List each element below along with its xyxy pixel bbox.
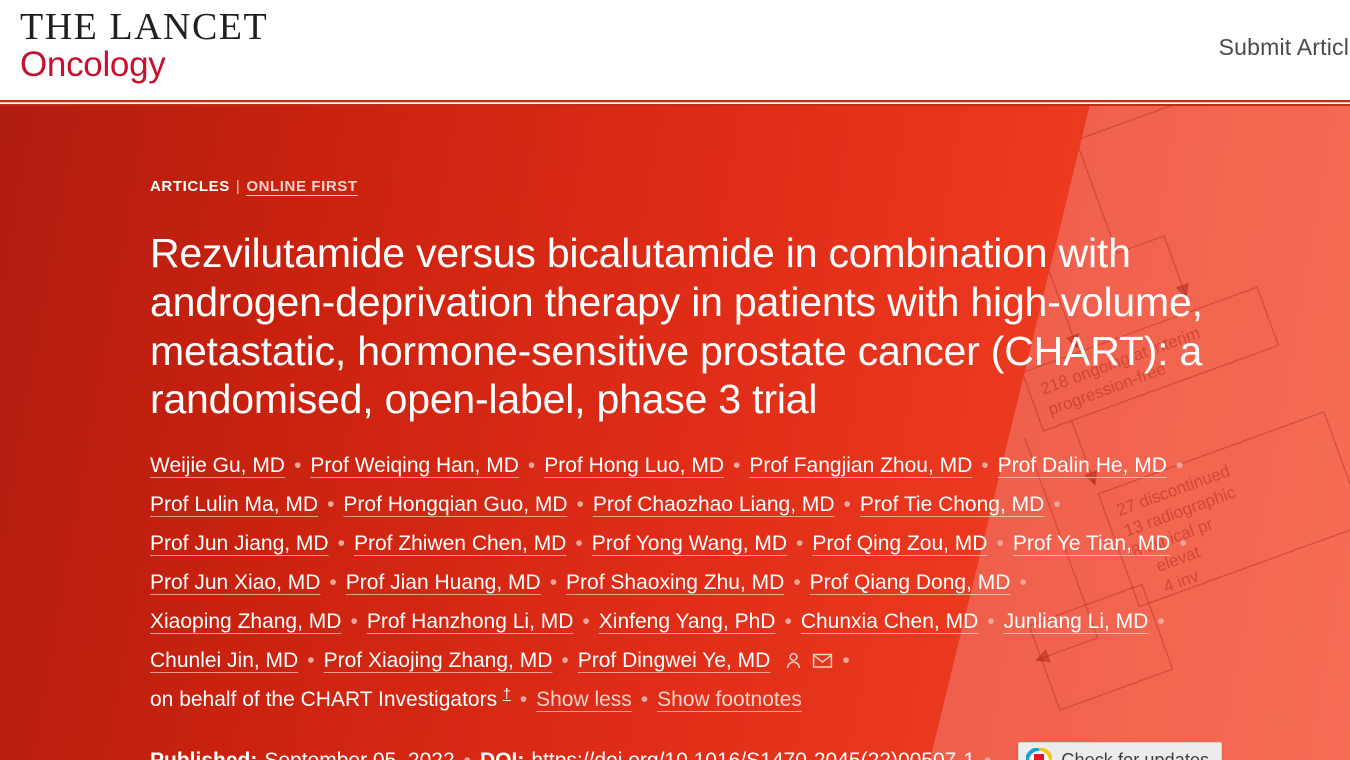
author-link[interactable]: Prof Fangjian Zhou, MD bbox=[749, 446, 972, 485]
author-bullet-separator: • bbox=[981, 446, 988, 485]
author-link[interactable]: Prof Hongqian Guo, MD bbox=[343, 485, 567, 524]
envelope-icon[interactable] bbox=[812, 651, 833, 670]
check-for-updates-label: Check for updates bbox=[1061, 750, 1209, 760]
breadcrumb-separator: | bbox=[236, 178, 241, 195]
author-bullet-separator: • bbox=[793, 563, 800, 602]
author-bullet-separator: • bbox=[577, 485, 584, 524]
author-bullet-separator: • bbox=[641, 680, 648, 719]
author-bullet-separator: • bbox=[844, 485, 851, 524]
author-bullet-separator: • bbox=[329, 563, 336, 602]
author-link[interactable]: Prof Yong Wang, MD bbox=[592, 524, 787, 563]
author-link[interactable]: Prof Tie Chong, MD bbox=[860, 485, 1044, 524]
author-bullet-separator: • bbox=[294, 446, 301, 485]
author-link[interactable]: Prof Jian Huang, MD bbox=[346, 563, 541, 602]
author-bullet-separator: • bbox=[1157, 602, 1164, 641]
header-nav: Submit Article bbox=[1219, 0, 1350, 61]
doi-link[interactable]: https://doi.org/10.1016/S1470-2045(22)00… bbox=[531, 749, 975, 760]
article-hero-banner: 218 ongoing at interim progression-free … bbox=[0, 106, 1350, 760]
author-bullet-separator: • bbox=[550, 563, 557, 602]
author-bullet-separator: • bbox=[1179, 524, 1186, 563]
author-bullet-separator: • bbox=[327, 485, 334, 524]
author-bullet-separator: • bbox=[528, 446, 535, 485]
doi-label: DOI: bbox=[480, 749, 524, 760]
logo-secondary-text: Oncology bbox=[20, 45, 268, 85]
author-link[interactable]: Prof Xiaojing Zhang, MD bbox=[324, 641, 553, 680]
author-link[interactable]: Xinfeng Yang, PhD bbox=[599, 602, 776, 641]
author-bullet-separator: • bbox=[733, 446, 740, 485]
site-logo[interactable]: THE LANCET Oncology bbox=[0, 0, 268, 85]
author-bullet-separator: • bbox=[987, 602, 994, 641]
show-less-button[interactable]: Show less bbox=[536, 680, 632, 719]
meta-bullet-separator-2: • bbox=[984, 741, 991, 760]
author-link[interactable]: Prof Qing Zou, MD bbox=[812, 524, 987, 563]
author-link[interactable]: Xiaoping Zhang, MD bbox=[150, 602, 341, 641]
footnote-marker[interactable]: † bbox=[503, 685, 511, 701]
author-bullet-separator: • bbox=[582, 602, 589, 641]
banner-content: ARTICLES|ONLINE FIRST Rezvilutamide vers… bbox=[0, 106, 1350, 760]
author-bullet-separator: • bbox=[338, 524, 345, 563]
logo-primary-text: THE LANCET bbox=[20, 8, 268, 47]
breadcrumb-section[interactable]: ARTICLES bbox=[150, 178, 230, 195]
author-link[interactable]: Prof Shaoxing Zhu, MD bbox=[566, 563, 784, 602]
author-link[interactable]: Prof Dalin He, MD bbox=[998, 446, 1167, 485]
published-date: September 05, 2022 bbox=[264, 749, 454, 760]
author-bullet-separator: • bbox=[842, 641, 849, 680]
meta-bullet-separator: • bbox=[464, 741, 471, 760]
author-bullet-separator: • bbox=[1053, 485, 1060, 524]
author-link[interactable]: Prof Jun Xiao, MD bbox=[150, 563, 320, 602]
corresponding-author-link[interactable]: Prof Dingwei Ye, MD bbox=[578, 641, 771, 680]
show-footnotes-button[interactable]: Show footnotes bbox=[657, 680, 802, 719]
submit-article-link[interactable]: Submit Article bbox=[1219, 34, 1350, 61]
check-for-updates-badge[interactable]: Check for updates bbox=[1018, 742, 1222, 760]
author-link[interactable]: Prof Hong Luo, MD bbox=[544, 446, 724, 485]
page-title: Rezvilutamide versus bicalutamide in com… bbox=[150, 229, 1250, 424]
on-behalf-of-text: on behalf of the CHART Investigators † bbox=[150, 680, 511, 719]
author-link[interactable]: Prof Hanzhong Li, MD bbox=[367, 602, 574, 641]
author-bullet-separator: • bbox=[796, 524, 803, 563]
breadcrumb: ARTICLES|ONLINE FIRST bbox=[150, 178, 1350, 195]
author-bullet-separator: • bbox=[996, 524, 1003, 563]
header-divider-rule bbox=[0, 99, 1350, 106]
author-bullet-separator: • bbox=[1019, 563, 1026, 602]
author-bullet-separator: • bbox=[307, 641, 314, 680]
author-bullet-separator: • bbox=[575, 524, 582, 563]
author-bullet-separator: • bbox=[784, 602, 791, 641]
author-link[interactable]: Prof Jun Jiang, MD bbox=[150, 524, 329, 563]
author-link[interactable]: Weijie Gu, MD bbox=[150, 446, 285, 485]
person-icon[interactable] bbox=[784, 651, 803, 670]
author-link[interactable]: Prof Chaozhao Liang, MD bbox=[593, 485, 835, 524]
author-list: Weijie Gu, MD•Prof Weiqing Han, MD•Prof … bbox=[150, 446, 1215, 719]
author-link[interactable]: Prof Zhiwen Chen, MD bbox=[354, 524, 566, 563]
author-bullet-separator: • bbox=[561, 641, 568, 680]
author-link[interactable]: Junliang Li, MD bbox=[1004, 602, 1149, 641]
author-link[interactable]: Prof Weiqing Han, MD bbox=[310, 446, 519, 485]
author-bullet-separator: • bbox=[1176, 446, 1183, 485]
author-bullet-separator: • bbox=[350, 602, 357, 641]
author-link[interactable]: Chunlei Jin, MD bbox=[150, 641, 298, 680]
author-link[interactable]: Prof Qiang Dong, MD bbox=[810, 563, 1011, 602]
site-header: THE LANCET Oncology Submit Article bbox=[0, 0, 1350, 106]
author-bullet-separator: • bbox=[520, 680, 527, 719]
author-link[interactable]: Prof Lulin Ma, MD bbox=[150, 485, 318, 524]
author-link[interactable]: Prof Ye Tian, MD bbox=[1013, 524, 1171, 563]
breadcrumb-status-online-first[interactable]: ONLINE FIRST bbox=[246, 178, 357, 195]
author-link[interactable]: Chunxia Chen, MD bbox=[801, 602, 978, 641]
published-label: Published: bbox=[150, 749, 257, 760]
publication-meta-row: Published: September 05, 2022 • DOI: htt… bbox=[150, 741, 1350, 760]
crossmark-logo-icon bbox=[1026, 748, 1052, 760]
